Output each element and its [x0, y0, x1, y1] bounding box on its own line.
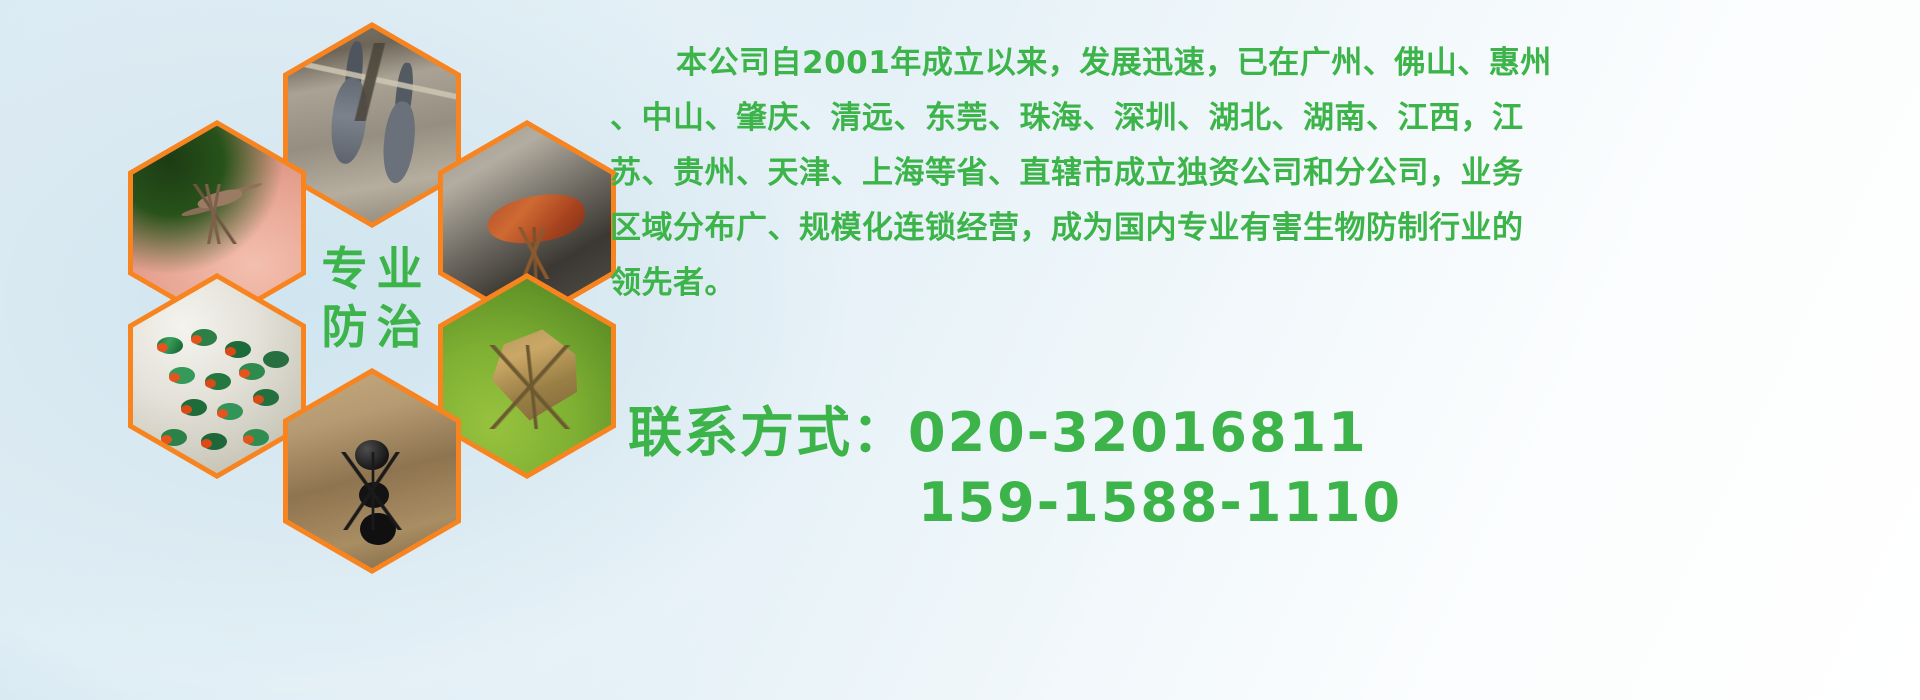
rats-image	[288, 28, 456, 223]
contact-block: 联系方式：020-32016811 159-1588-1110	[628, 398, 1728, 538]
contact-phone-landline[interactable]: 联系方式：020-32016811	[628, 398, 1728, 468]
intro-line-2: 、中山、肇庆、清远、东莞、珠海、深圳、湖北、湖南、江西，江	[610, 91, 1882, 146]
intro-line-5: 领先者。	[610, 256, 1882, 311]
badge-line-2: 防治	[313, 304, 432, 350]
hex-photo-inner	[288, 374, 456, 569]
badge-line-1: 专业	[313, 246, 432, 292]
ant-image	[288, 374, 456, 569]
content-column: 本公司自2001年成立以来，发展迅速，已在广州、佛山、惠州 、中山、肇庆、清远、…	[610, 0, 1910, 700]
intro-line-4: 区域分布广、规模化连锁经营，成为国内专业有害生物防制行业的	[610, 201, 1882, 256]
hex-photo-inner	[133, 279, 301, 474]
company-intro-paragraph: 本公司自2001年成立以来，发展迅速，已在广州、佛山、惠州 、中山、肇庆、清远、…	[610, 36, 1882, 311]
hexagon-photo-cluster: 专业 防治	[95, 8, 595, 558]
hex-photo-inner	[443, 279, 611, 474]
flies-image	[133, 279, 301, 474]
contact-phone-mobile[interactable]: 159-1588-1110	[628, 468, 1728, 538]
hex-photo-dead-rats	[283, 22, 461, 228]
stinkbug-image	[443, 279, 611, 474]
intro-line-3: 苏、贵州、天津、上海等省、直辖市成立独资公司和分公司，业务	[610, 146, 1882, 201]
promotional-banner: 专业 防治 本公司自2001年成立以来，发展迅速，已在广州、佛山、惠州 、中山、…	[0, 0, 1920, 700]
intro-line-1: 本公司自2001年成立以来，发展迅速，已在广州、佛山、惠州	[610, 36, 1882, 91]
hex-photo-flies	[128, 273, 306, 479]
hex-photo-inner	[288, 28, 456, 223]
hex-photo-ant	[283, 368, 461, 574]
hex-photo-stinkbug	[438, 273, 616, 479]
